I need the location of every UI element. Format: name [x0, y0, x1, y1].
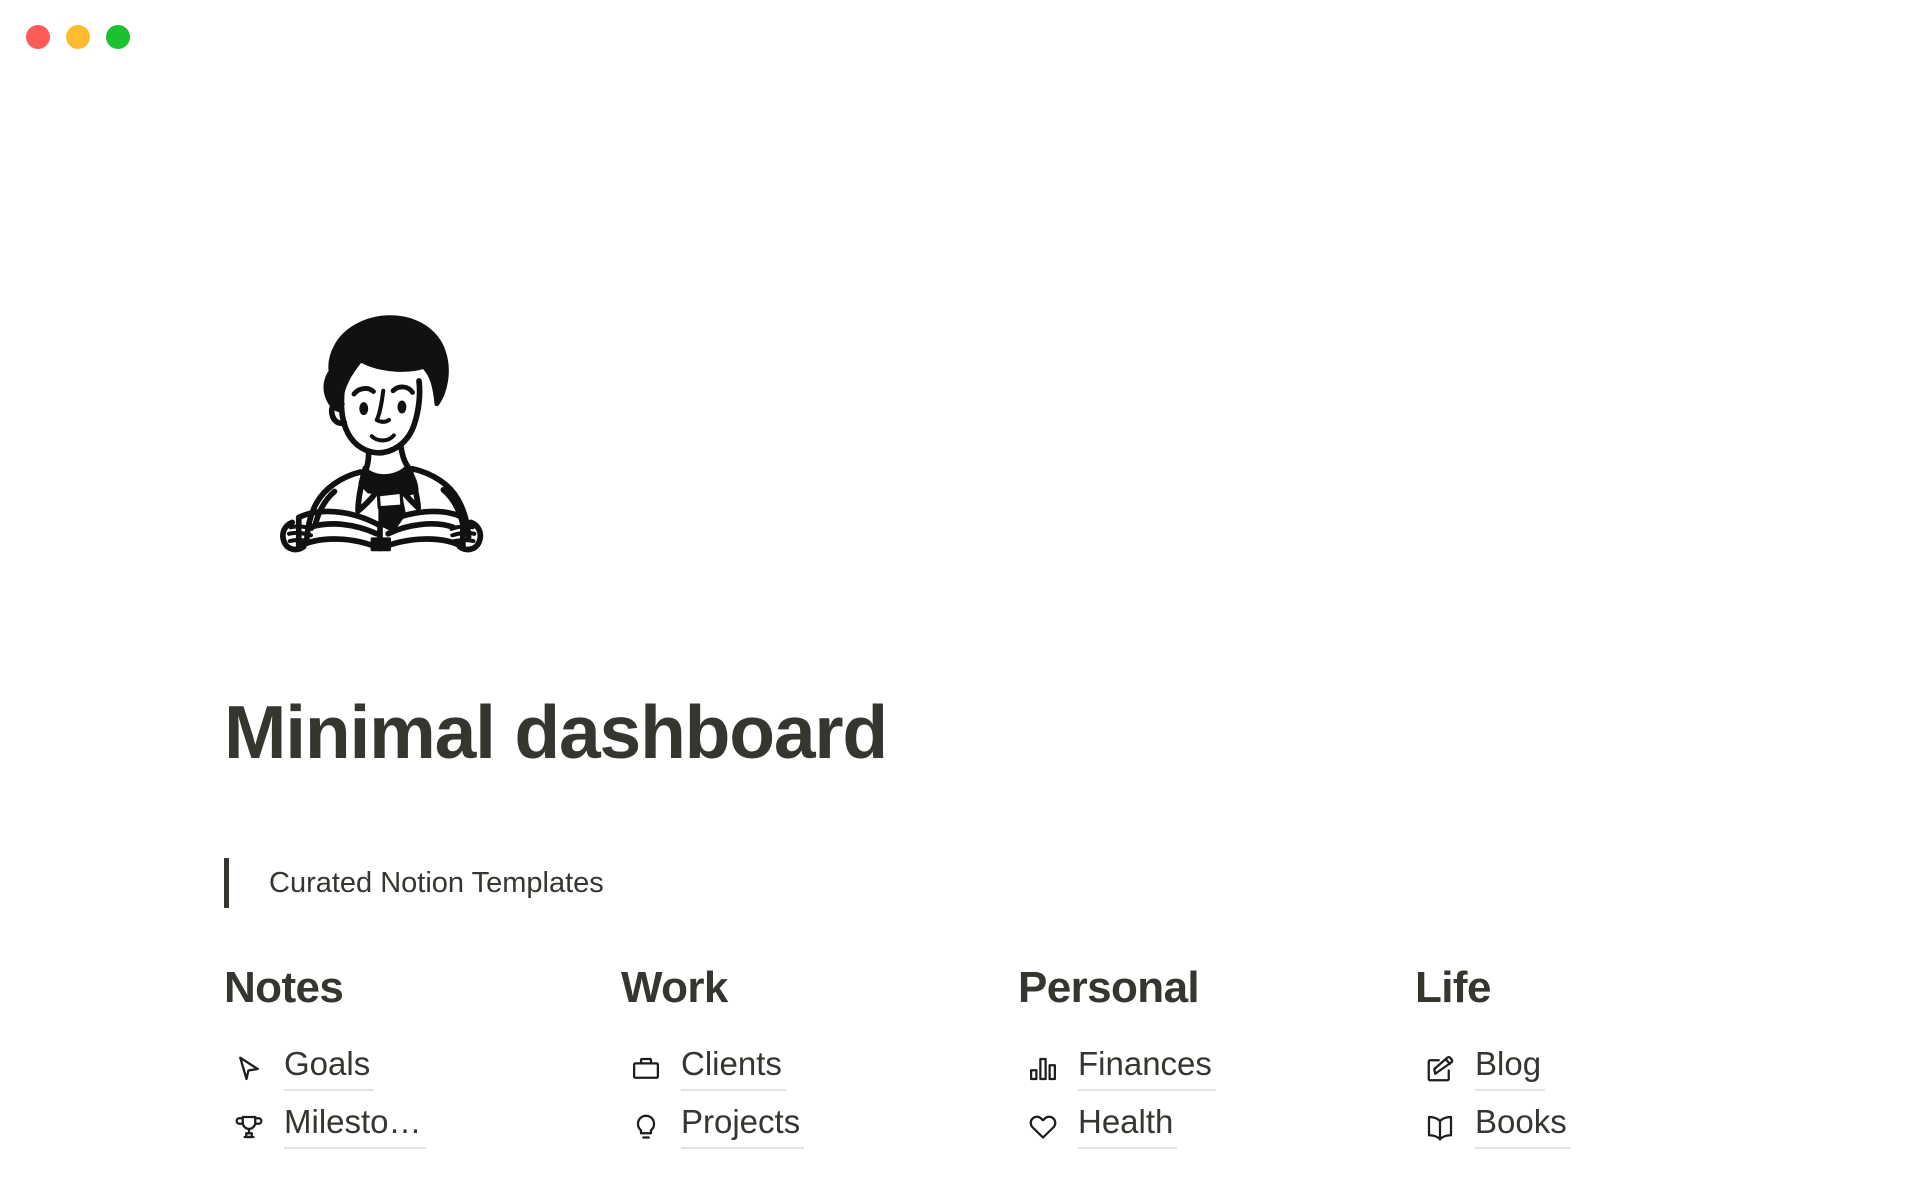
link-row-health[interactable]: Health — [1018, 1098, 1415, 1156]
link-row-finances[interactable]: Finances — [1018, 1040, 1415, 1098]
link-label-books[interactable]: Books — [1475, 1105, 1571, 1149]
person-reading-book-illustration — [250, 280, 510, 560]
quote-bar — [224, 858, 229, 908]
column-title-notes: Notes — [224, 966, 621, 1010]
subtitle-text: Curated Notion Templates — [269, 869, 604, 898]
link-row-milestones[interactable]: Milesto… — [224, 1098, 621, 1156]
link-row-projects[interactable]: Projects — [621, 1098, 1018, 1156]
column-title-life: Life — [1415, 966, 1812, 1010]
bar-chart-icon — [1026, 1052, 1060, 1086]
link-label-blog[interactable]: Blog — [1475, 1047, 1545, 1091]
column-notes: Notes Goals — [224, 966, 621, 1156]
column-title-work: Work — [621, 966, 1018, 1010]
traffic-light-group — [26, 25, 130, 49]
cursor-arrow-icon — [232, 1052, 266, 1086]
column-life: Life Blog — [1415, 966, 1812, 1156]
window-titlebar — [0, 0, 1920, 80]
zoom-window-button[interactable] — [106, 25, 130, 49]
page-body: Minimal dashboard Curated Notion Templat… — [0, 80, 1920, 1200]
link-label-finances[interactable]: Finances — [1078, 1047, 1216, 1091]
link-label-clients[interactable]: Clients — [681, 1047, 786, 1091]
link-label-health[interactable]: Health — [1078, 1105, 1177, 1149]
link-row-books[interactable]: Books — [1415, 1098, 1812, 1156]
heart-icon — [1026, 1110, 1060, 1144]
link-label-projects[interactable]: Projects — [681, 1105, 804, 1149]
minimize-window-button[interactable] — [66, 25, 90, 49]
briefcase-icon — [629, 1052, 663, 1086]
link-row-clients[interactable]: Clients — [621, 1040, 1018, 1098]
subtitle-quote-block: Curated Notion Templates — [224, 857, 604, 909]
column-work: Work Clients — [621, 966, 1018, 1156]
lightbulb-icon — [629, 1110, 663, 1144]
open-book-icon — [1423, 1110, 1457, 1144]
link-columns: Notes Goals — [224, 966, 1884, 1156]
link-label-goals[interactable]: Goals — [284, 1047, 374, 1091]
close-window-button[interactable] — [26, 25, 50, 49]
link-row-goals[interactable]: Goals — [224, 1040, 621, 1098]
column-title-personal: Personal — [1018, 966, 1415, 1010]
app-window: Minimal dashboard Curated Notion Templat… — [0, 0, 1920, 1200]
link-row-blog[interactable]: Blog — [1415, 1040, 1812, 1098]
trophy-icon — [232, 1110, 266, 1144]
pencil-square-icon — [1423, 1052, 1457, 1086]
link-label-milestones[interactable]: Milesto… — [284, 1105, 426, 1149]
page-title: Minimal dashboard — [224, 695, 887, 770]
column-personal: Personal Finances — [1018, 966, 1415, 1156]
